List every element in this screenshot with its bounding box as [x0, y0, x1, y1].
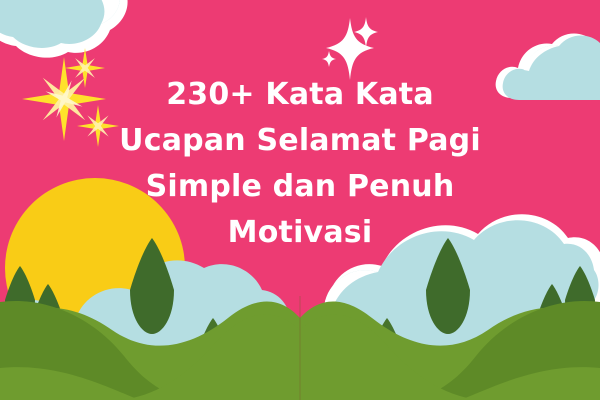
illustration-scene	[0, 0, 600, 400]
banner-image: 230+ Kata Kata Ucapan Selamat Pagi Simpl…	[0, 0, 600, 400]
